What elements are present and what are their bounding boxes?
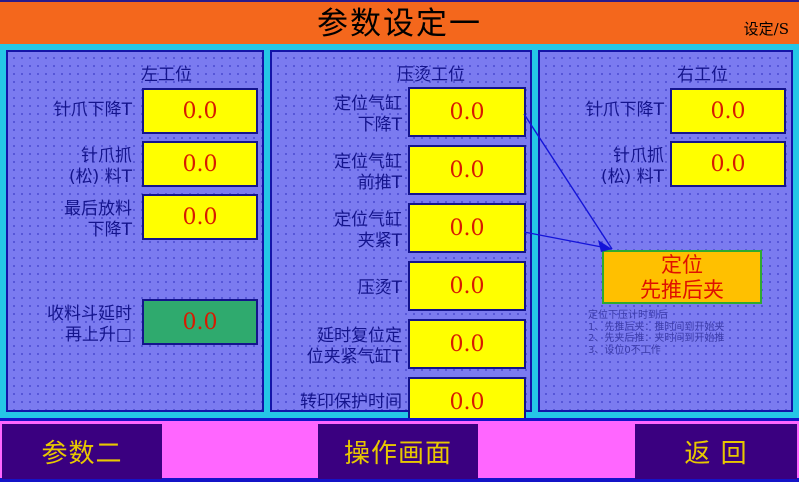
- panel-right-title: 右工位: [677, 60, 728, 85]
- field-value-left-0[interactable]: 0.0: [142, 88, 258, 134]
- panels-area: 左工位 针爪下降T 0.0 针爪抓 (松) 料T 0.0 最后放料 下降T 0.…: [0, 44, 799, 418]
- page-title: 参数设定一: [0, 4, 799, 44]
- field-label-right-1: 针爪抓 (松) 料T: [542, 146, 664, 188]
- field-value-middle-1[interactable]: 0.0: [408, 145, 526, 195]
- field-label-middle-3: 压烫T: [274, 278, 402, 299]
- field-label-left-3: 收料斗延时 再上升□: [12, 304, 132, 346]
- panel-right-station: 右工位 针爪下降T 0.0 针爪抓 (松) 料T 0.0 定位 先推后夹 定位下…: [538, 50, 793, 412]
- positioning-mode-button[interactable]: 定位 先推后夹: [602, 250, 762, 304]
- field-value-left-3[interactable]: 0.0: [142, 299, 258, 345]
- field-label-right-0: 针爪下降T: [542, 100, 664, 121]
- bottom-button-bar: 参数二 操作画面 返 回: [0, 418, 799, 482]
- panel-middle-title: 压烫工位: [397, 60, 465, 85]
- field-label-left-1: 针爪抓 (松) 料T: [12, 146, 132, 188]
- field-label-middle-2: 定位气缸 夹紧T: [274, 210, 402, 252]
- param2-button[interactable]: 参数二: [2, 424, 162, 479]
- field-label-middle-0: 定位气缸 下降T: [274, 94, 402, 136]
- field-value-right-0[interactable]: 0.0: [670, 88, 786, 134]
- field-label-left-2: 最后放料 下降T: [12, 199, 132, 241]
- header-bar: 参数设定一 设定/S: [0, 0, 799, 46]
- field-label-left-0: 针爪下降T: [12, 100, 132, 121]
- field-label-middle-1: 定位气缸 前推T: [274, 152, 402, 194]
- field-value-middle-4[interactable]: 0.0: [408, 319, 526, 369]
- positioning-mode-note: 定位下压计时到后 1、先推后夹：推时间到开始夹 2、先夹后推：夹时间到开始推 3…: [588, 310, 793, 356]
- field-value-middle-2[interactable]: 0.0: [408, 203, 526, 253]
- field-value-left-1[interactable]: 0.0: [142, 141, 258, 187]
- field-value-middle-0[interactable]: 0.0: [408, 87, 526, 137]
- hmi-screen: 参数设定一 设定/S 左工位 针爪下降T 0.0 针爪抓 (松) 料T 0.0 …: [0, 0, 799, 482]
- operation-screen-button[interactable]: 操作画面: [318, 424, 478, 479]
- field-value-right-1[interactable]: 0.0: [670, 141, 786, 187]
- panel-left-title: 左工位: [141, 60, 192, 85]
- field-value-middle-3[interactable]: 0.0: [408, 261, 526, 311]
- back-button[interactable]: 返 回: [635, 424, 797, 479]
- panel-press-station: 压烫工位 定位气缸 下降T 0.0 定位气缸 前推T 0.0 定位气缸 夹紧T …: [270, 50, 532, 412]
- panel-left-station: 左工位 针爪下降T 0.0 针爪抓 (松) 料T 0.0 最后放料 下降T 0.…: [6, 50, 264, 412]
- field-value-left-2[interactable]: 0.0: [142, 194, 258, 240]
- field-label-middle-4: 延时复位定 位夹紧气缸T: [274, 326, 402, 368]
- unit-label: 设定/S: [744, 18, 789, 39]
- field-label-middle-5: 转印保护时间: [274, 392, 402, 413]
